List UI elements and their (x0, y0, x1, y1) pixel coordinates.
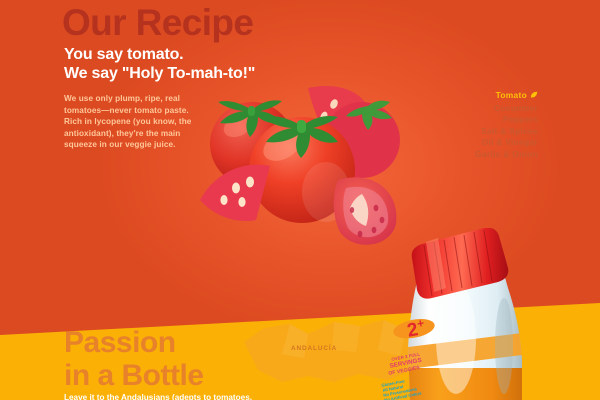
map-label-andalucia: ANDALUCÍA (291, 345, 337, 352)
passion-title-line-1: Passion (64, 326, 204, 359)
ingredients-list: Tomato Cucumber Peppers Salt & Spices Oi… (475, 90, 538, 161)
subheading-line-1: You say tomato. (64, 45, 255, 64)
page-stage: Our Recipe You say tomato. We say "Holy … (0, 0, 600, 400)
tomato-illustration (190, 82, 415, 247)
ingredient-item-salt-and-spices[interactable]: Salt & Spices (475, 126, 538, 138)
recipe-body-copy: We use only plump, ripe, real tomatoes—n… (64, 93, 194, 151)
ingredient-item-garlic-and-onion[interactable]: Garlic & Onion (475, 149, 538, 161)
ingredient-label: Tomato (496, 90, 527, 100)
ingredient-item-tomato[interactable]: Tomato (475, 90, 538, 103)
ingredient-item-cucumber[interactable]: Cucumber (475, 103, 538, 115)
ingredient-item-peppers[interactable]: Peppers (475, 114, 538, 126)
tomato-wedge-left (200, 165, 270, 221)
leaf-icon (530, 91, 538, 103)
page-title: Our Recipe (62, 2, 253, 44)
passion-title: Passion in a Bottle (64, 326, 204, 392)
passion-title-line-2: in a Bottle (64, 359, 204, 392)
recipe-subheading: You say tomato. We say "Holy To-mah-to!" (64, 45, 255, 83)
subheading-line-2: We say "Holy To-mah-to!" (64, 64, 255, 83)
ingredient-item-oil-and-vinegar[interactable]: Oil & Vinegar (475, 137, 538, 149)
product-bottle: 2 + (380, 228, 540, 400)
passion-body-copy: Leave it to the Andalusians (adepts to t… (64, 392, 354, 400)
